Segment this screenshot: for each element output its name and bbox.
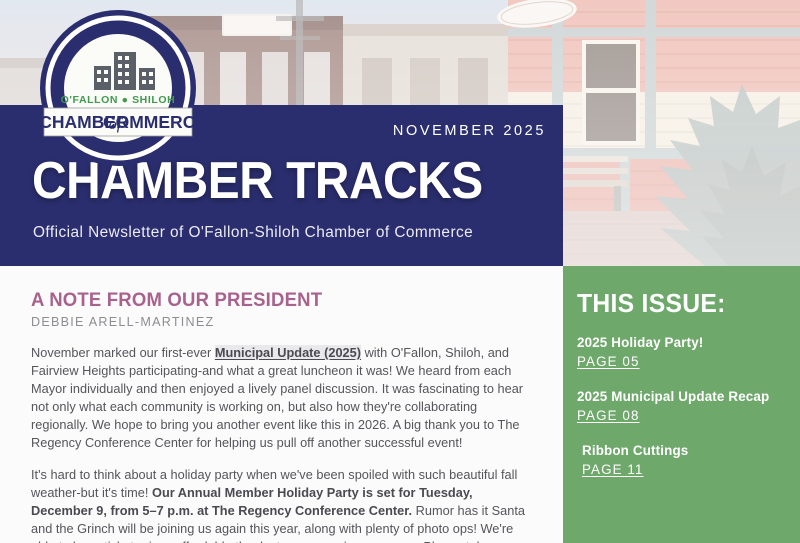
article-paragraph-2: It's hard to think about a holiday party… (31, 466, 535, 543)
logo-top-text: O'FALLON ● SHILOH (61, 94, 176, 106)
toc-item-ribbon-cuttings[interactable]: Ribbon Cuttings PAGE 11 (577, 442, 792, 479)
this-issue-sidebar: THIS ISSUE: 2025 Holiday Party! PAGE 05 … (563, 266, 800, 543)
municipal-update-link[interactable]: Municipal Update (2025) (215, 345, 361, 360)
toc-page-link[interactable]: PAGE 05 (577, 354, 640, 369)
toc-label: Ribbon Cuttings (577, 442, 792, 459)
toc-label: 2025 Municipal Update Recap (577, 388, 792, 405)
newsletter-page: NOVEMBER 2025 CHAMBER TRACKS Official Ne… (0, 0, 800, 543)
issue-date: NOVEMBER 2025 (393, 123, 546, 139)
paragraph-1-before: November marked our first-ever (31, 345, 215, 360)
toc-item-municipal-update[interactable]: 2025 Municipal Update Recap PAGE 08 (577, 388, 792, 425)
chamber-logo-svg: O'FALLON ● SHILOH CHAMBER of COMMERCE (38, 8, 198, 168)
toc-page-link[interactable]: PAGE 08 (577, 408, 640, 423)
logo-word-commerce: COMMERCE (103, 112, 198, 132)
toc-page-link[interactable]: PAGE 11 (577, 462, 644, 477)
sidebar-title: THIS ISSUE: (577, 288, 726, 319)
article-column: A NOTE FROM OUR PRESIDENT DEBBIE ARELL-M… (0, 266, 563, 543)
toc-item-holiday-party[interactable]: 2025 Holiday Party! PAGE 05 (577, 334, 792, 371)
table-of-contents: 2025 Holiday Party! PAGE 05 2025 Municip… (577, 334, 792, 496)
article-paragraph-1: November marked our first-ever Municipal… (31, 344, 535, 453)
paragraph-1-after: with O'Fallon, Shiloh, and Fairview Heig… (31, 345, 523, 450)
chamber-logo: O'FALLON ● SHILOH CHAMBER of COMMERCE (38, 8, 198, 168)
toc-label: 2025 Holiday Party! (577, 334, 792, 351)
masthead-subtitle: Official Newsletter of O'Fallon-Shiloh C… (33, 224, 473, 242)
article-kicker: A NOTE FROM OUR PRESIDENT (31, 289, 510, 312)
article-byline: DEBBIE ARELL-MARTINEZ (31, 315, 535, 329)
